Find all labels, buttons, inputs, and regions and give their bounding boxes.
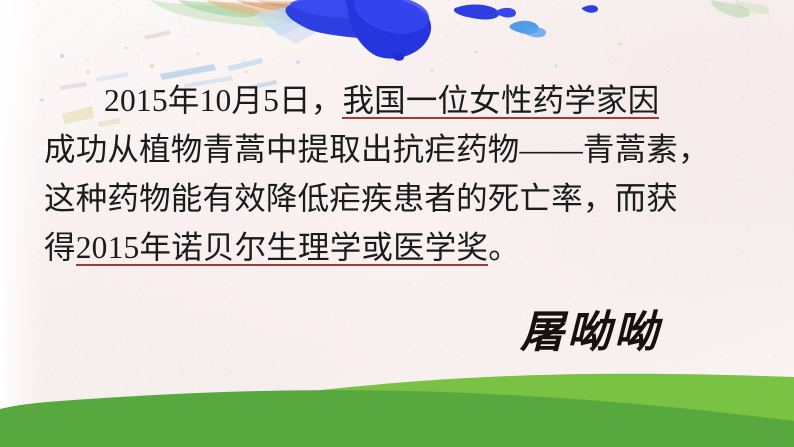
green-hill-shapes-icon [0,347,794,447]
line-4-segment-2-underlined: 2015年诺贝尔生理学或医学奖 [76,230,489,266]
line-3-segment-1: 这种药物能有效降低疟疾患者的死亡率，而获 [44,181,678,216]
bottom-hills-decoration [0,347,794,447]
line-4-segment-3: 。 [488,230,520,265]
line-4-segment-1: 得 [44,230,76,265]
line-2-segment-1: 成功从植物青蒿中提取出抗疟药物——青蒿素， [44,132,710,167]
body-line-2: 成功从植物青蒿中提取出抗疟药物——青蒿素， [44,125,750,174]
line-1-segment-1: 2015年10月5日， [104,83,342,118]
line-1-segment-2-underlined: 我国一位女性药学家因 [342,83,659,119]
body-line-3: 这种药物能有效降低疟疾患者的死亡率，而获 [44,174,750,223]
slide-canvas: 2015年10月5日，我国一位女性药学家因 成功从植物青蒿中提取出抗疟药物——青… [0,0,794,447]
body-line-4: 得2015年诺贝尔生理学或医学奖。 [44,223,750,272]
body-text: 2015年10月5日，我国一位女性药学家因 成功从植物青蒿中提取出抗疟药物——青… [44,76,750,272]
body-line-1: 2015年10月5日，我国一位女性药学家因 [44,76,750,125]
